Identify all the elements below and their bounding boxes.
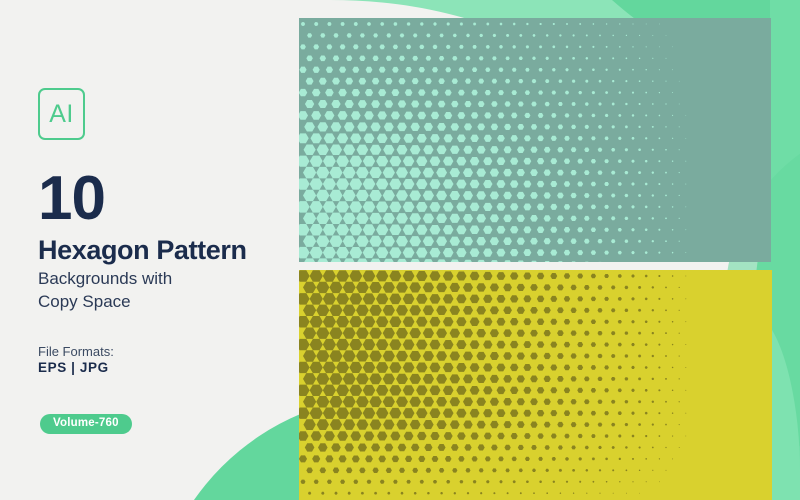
pack-count: 10 [38, 168, 105, 230]
subtitle-line-1: Backgrounds with [38, 268, 172, 291]
preview-canvas: AI 10 Hexagon Pattern Backgrounds with C… [0, 0, 800, 500]
teal-hexagon-panel [299, 18, 771, 262]
file-formats-value: EPS | JPG [38, 360, 109, 376]
volume-badge-label: Volume-760 [53, 418, 119, 430]
decor-shape-bottom-right [772, 330, 800, 500]
yellow-hexagon-pattern [299, 270, 772, 500]
page-title: Hexagon Pattern [38, 236, 247, 264]
page-subtitle: Backgrounds with Copy Space [38, 268, 172, 314]
adobe-illustrator-badge: AI [38, 88, 85, 140]
subtitle-line-2: Copy Space [38, 291, 172, 314]
yellow-hexagon-panel [299, 270, 772, 500]
teal-hexagon-pattern [299, 18, 771, 262]
badge-label: AI [49, 102, 74, 127]
file-formats-label: File Formats: [38, 344, 114, 360]
info-column: AI 10 Hexagon Pattern Backgrounds with C… [38, 0, 288, 500]
volume-badge: Volume-760 [40, 414, 132, 434]
